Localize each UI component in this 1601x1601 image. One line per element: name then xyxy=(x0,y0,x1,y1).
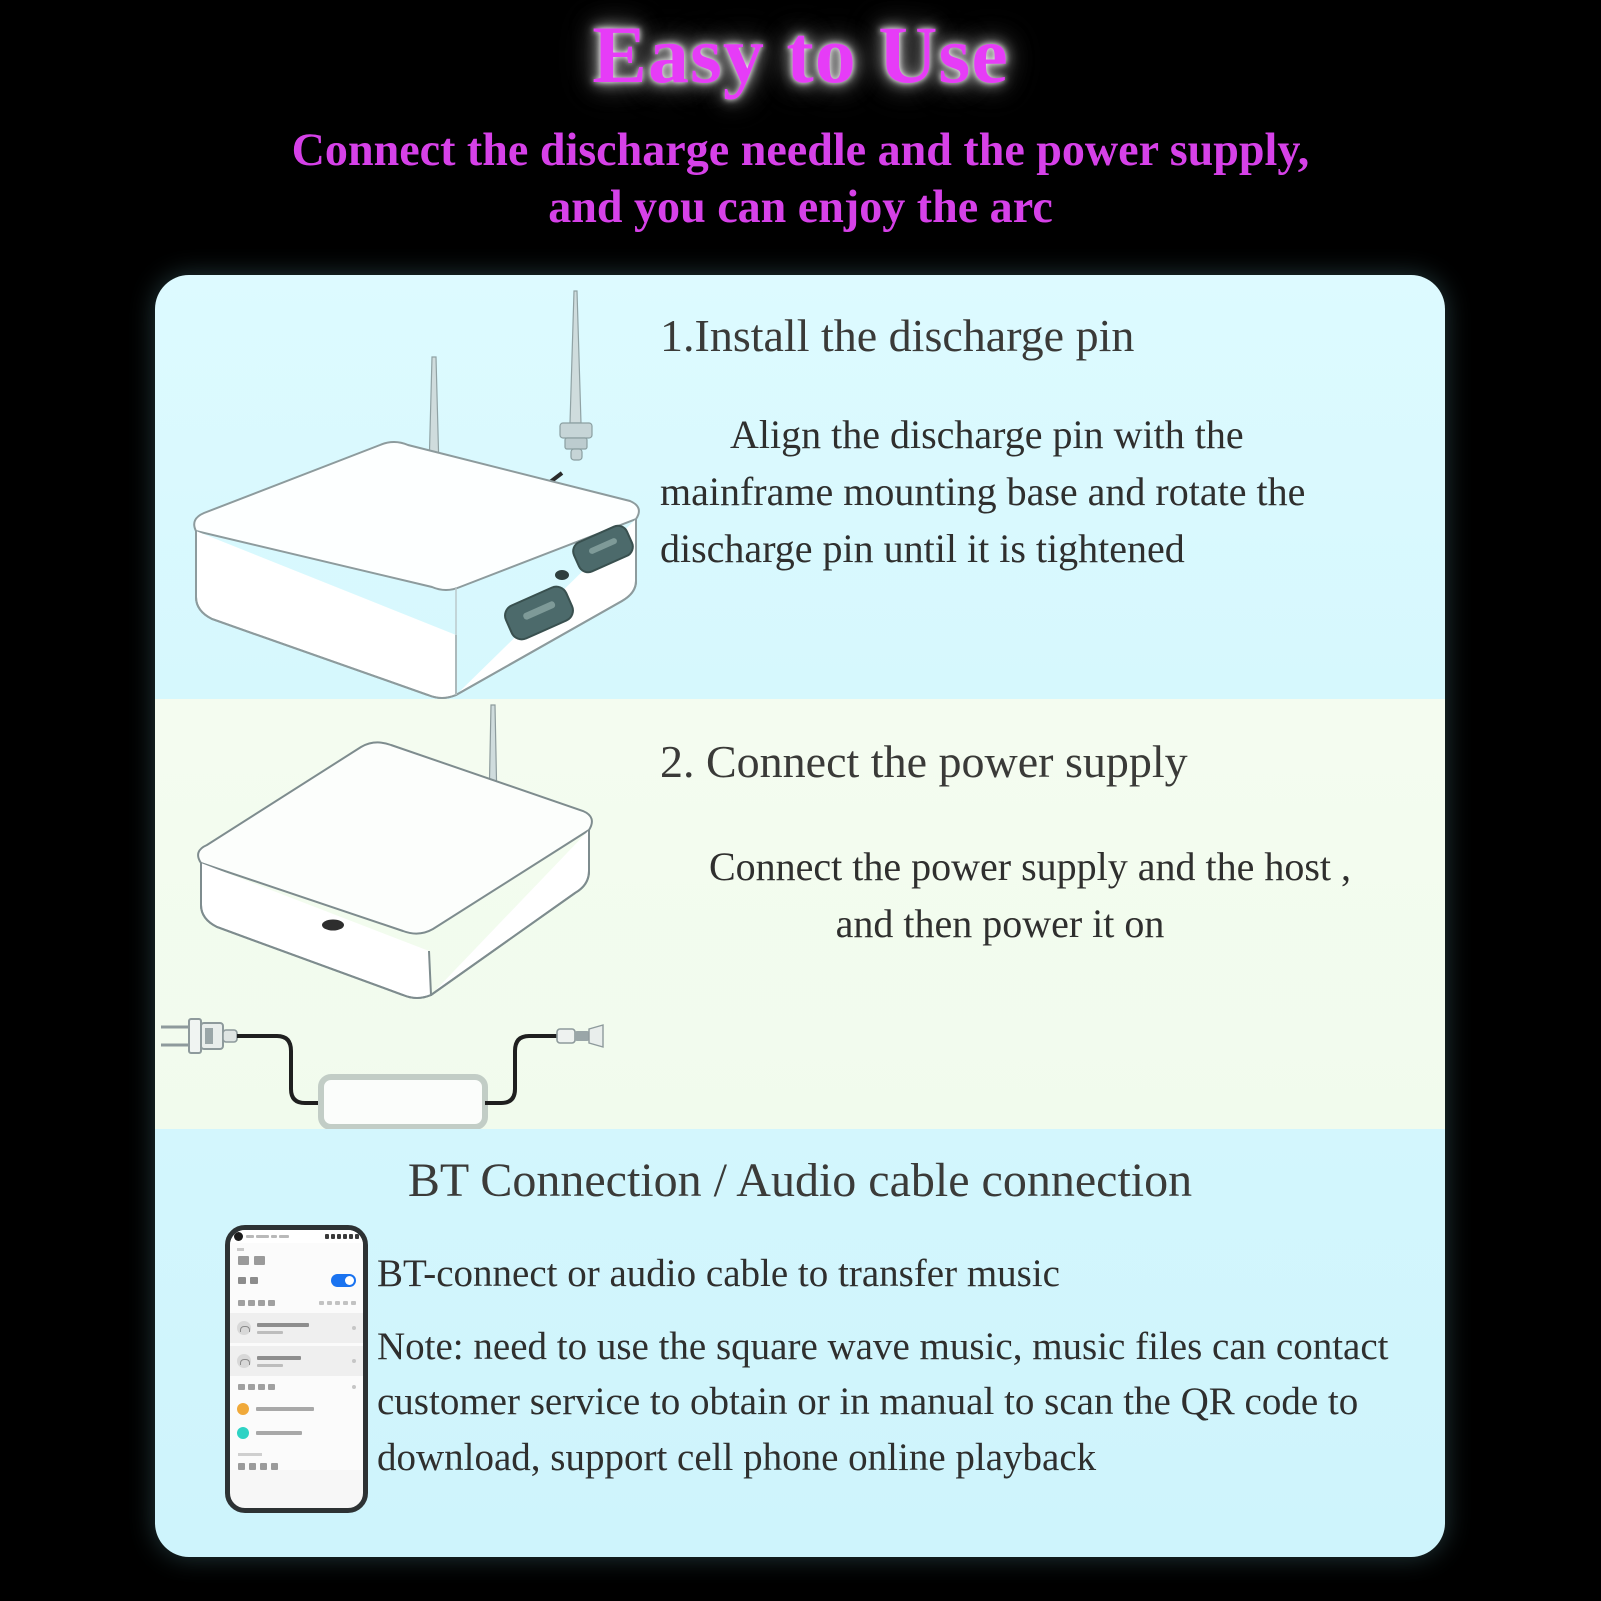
bluetooth-page-title xyxy=(238,1256,363,1265)
bluetooth-toggle-switch[interactable] xyxy=(331,1274,356,1287)
list-item[interactable] xyxy=(230,1313,363,1343)
instructions-card: 1.Install the discharge pin Align the di… xyxy=(155,275,1445,1557)
status-bar-left xyxy=(246,1235,325,1238)
detached-discharge-pin xyxy=(560,291,592,460)
device-avatar-icon xyxy=(237,1427,249,1439)
panel-step-2: 2. Connect the power supply Connect the … xyxy=(155,699,1445,1129)
phone-content xyxy=(230,1243,363,1470)
headphones-icon xyxy=(237,1321,251,1335)
refresh-icon[interactable] xyxy=(352,1385,356,1389)
step-1-body: Align the discharge pin with the mainfra… xyxy=(660,407,1400,577)
step-2-heading: 2. Connect the power supply xyxy=(660,735,1188,788)
list-item-label xyxy=(256,1407,314,1411)
main-unit-body-2 xyxy=(198,742,592,998)
headphones-icon xyxy=(237,1354,251,1368)
page-subtitle: Connect the discharge needle and the pow… xyxy=(16,122,1585,237)
page-title: Easy to Use xyxy=(0,0,1601,96)
available-devices-header xyxy=(230,1379,363,1397)
list-item-label xyxy=(256,1431,302,1435)
status-bar-icons xyxy=(325,1234,359,1239)
subtitle-line-1: Connect the discharge needle and the pow… xyxy=(134,122,1468,179)
device-port xyxy=(555,570,569,580)
ac-plug-icon xyxy=(161,1019,237,1053)
phone-bluetooth-settings-mock xyxy=(225,1225,368,1513)
section-label xyxy=(238,1453,262,1456)
info-icon[interactable] xyxy=(352,1326,356,1330)
step-1-heading: 1.Install the discharge pin xyxy=(660,309,1134,362)
header: Easy to Use Connect the discharge needle… xyxy=(0,0,1601,237)
device-port-2 xyxy=(322,920,344,931)
step-2-body: Connect the power supply and the host , … xyxy=(635,839,1365,953)
back-arrow-icon[interactable] xyxy=(237,1248,244,1251)
list-item[interactable] xyxy=(230,1397,363,1421)
panel-step-1: 1.Install the discharge pin Align the di… xyxy=(155,275,1445,699)
adapter-brick xyxy=(321,1077,485,1127)
front-camera-punch-hole xyxy=(234,1232,243,1241)
illustration-power-adapter xyxy=(155,999,625,1129)
main-unit-body xyxy=(194,442,639,698)
list-item-label xyxy=(257,1356,346,1367)
available-devices-label xyxy=(238,1384,275,1390)
device-avatar-icon xyxy=(237,1403,249,1415)
dc-barrel-jack-icon xyxy=(557,1025,603,1047)
step-3-line-1: BT-connect or audio cable to transfer mu… xyxy=(377,1247,1417,1302)
info-icon[interactable] xyxy=(352,1359,356,1363)
list-item[interactable] xyxy=(230,1421,363,1445)
list-item-label xyxy=(257,1323,346,1334)
footer-row[interactable] xyxy=(230,1460,363,1470)
step-3-note: Note: need to use the square wave music,… xyxy=(377,1319,1422,1485)
device-name-row[interactable] xyxy=(230,1295,363,1313)
list-item[interactable] xyxy=(230,1346,363,1376)
phone-status-bar xyxy=(230,1230,363,1243)
illustration-main-unit-assembled xyxy=(165,693,635,1023)
device-name-value xyxy=(319,1301,356,1305)
device-name-label xyxy=(238,1300,275,1306)
bluetooth-toggle-label xyxy=(238,1277,258,1284)
bluetooth-toggle-row[interactable] xyxy=(230,1265,363,1295)
panel-step-3: BT Connection / Audio cable connection xyxy=(155,1129,1445,1557)
step-3-heading: BT Connection / Audio cable connection xyxy=(155,1153,1445,1208)
subtitle-line-2: and you can enjoy the arc xyxy=(134,179,1468,236)
illustration-main-unit-with-discharge-pin xyxy=(160,275,660,699)
